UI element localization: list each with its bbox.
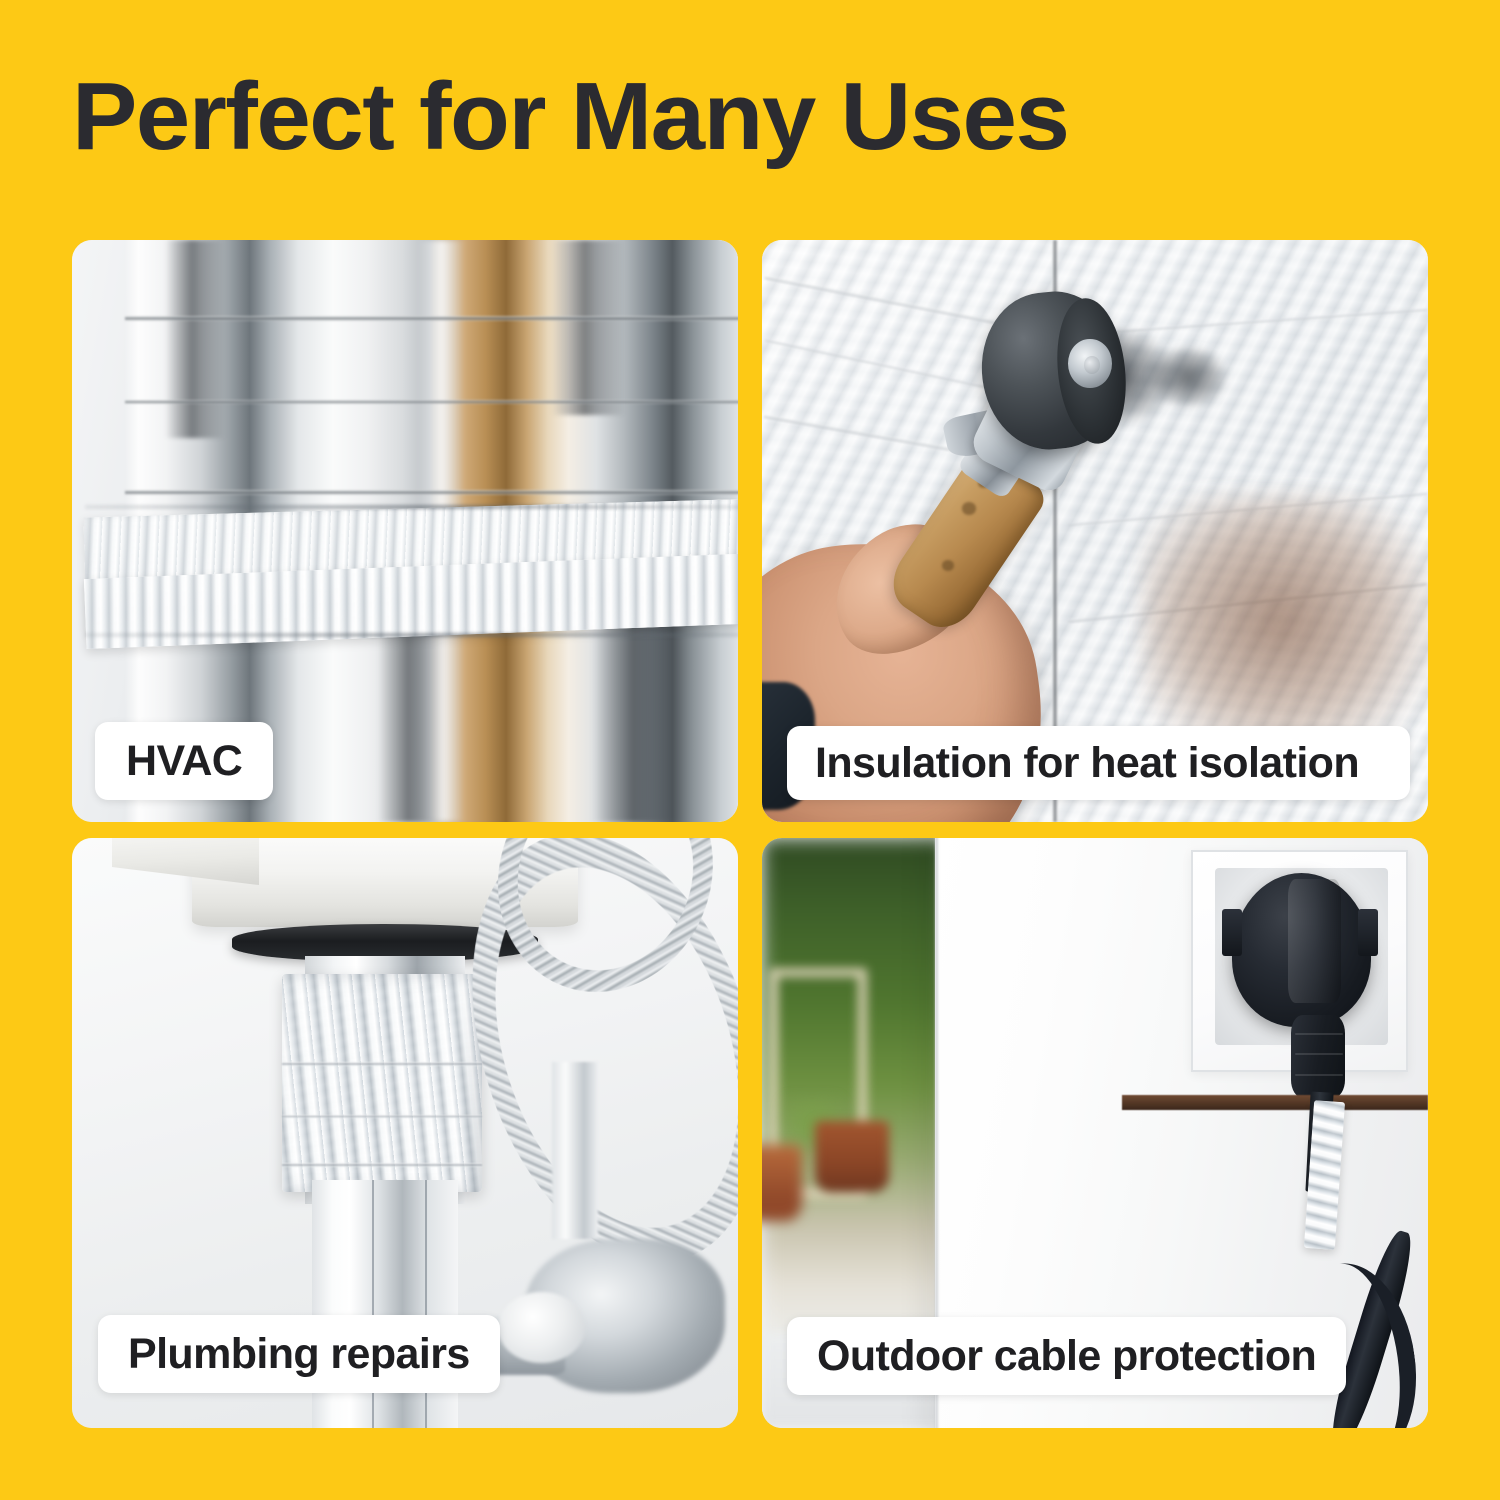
- tile-label-insulation: Insulation for heat isolation: [787, 726, 1410, 800]
- tile-label-text: HVAC: [126, 740, 242, 783]
- use-case-grid: HVAC: [72, 240, 1428, 1428]
- infographic-page: Perfect for Many Uses HVAC: [0, 0, 1500, 1500]
- tile-label-plumbing: Plumbing repairs: [98, 1315, 500, 1393]
- use-case-tile-plumbing[interactable]: Plumbing repairs: [72, 838, 738, 1428]
- use-case-tile-outdoor[interactable]: Outdoor cable protection: [762, 838, 1428, 1428]
- tile-label-text: Plumbing repairs: [128, 1333, 470, 1376]
- foil-tape-wrap: [282, 974, 482, 1192]
- tile-label-outdoor: Outdoor cable protection: [787, 1317, 1346, 1395]
- use-case-tile-hvac[interactable]: HVAC: [72, 240, 738, 822]
- page-title: Perfect for Many Uses: [72, 62, 1459, 172]
- use-case-tile-insulation[interactable]: Insulation for heat isolation: [762, 240, 1428, 822]
- tile-label-hvac: HVAC: [95, 722, 273, 800]
- tile-label-text: Insulation for heat isolation: [815, 742, 1359, 785]
- tile-label-text: Outdoor cable protection: [817, 1335, 1316, 1378]
